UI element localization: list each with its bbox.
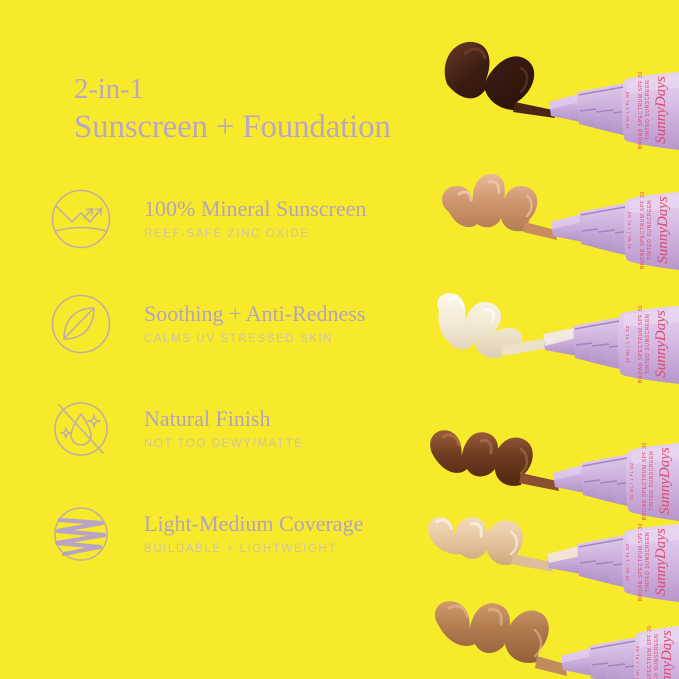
feature-item-mineral-sunscreen: 100% Mineral Sunscreen REEF-SAFE ZINC OX… (0, 186, 470, 291)
volume-text: 30 ML / 1 FL OZ (635, 645, 640, 679)
feature-item-coverage: Light-Medium Coverage BUILDABLE + LIGHTW… (0, 501, 470, 606)
uv-reflect-icon (50, 188, 112, 250)
copy-column: 2-in-1 Sunscreen + Foundation (0, 0, 470, 679)
feature-text: Natural Finish NOT TOO DEWY/MATTE (144, 396, 304, 450)
feature-text: Light-Medium Coverage BUILDABLE + LIGHTW… (144, 501, 363, 555)
shade-swatch-deep-espresso (445, 42, 555, 118)
feature-title: Light-Medium Coverage (144, 511, 363, 536)
no-dewy-droplet-icon (50, 398, 112, 460)
feature-list: 100% Mineral Sunscreen REEF-SAFE ZINC OX… (0, 186, 470, 606)
claim-line-2: TINTED SUNSCREEN (647, 200, 653, 260)
brand-text: SunnyDays (659, 630, 675, 679)
volume-text: 30 ML / 1 FL OZ (627, 211, 632, 249)
feature-subtitle: NOT TOO DEWY/MATTE (144, 438, 304, 450)
feature-subtitle: REEF-SAFE ZINC OXIDE (144, 228, 366, 240)
headline-line-2: Sunscreen + Foundation (74, 108, 391, 147)
feature-subtitle: BUILDABLE + LIGHTWEIGHT (144, 543, 363, 555)
product-unit-6: SunnyDays BROAD SPECTRUM SPF 30 TINTED S… (429, 552, 679, 679)
feature-title: Soothing + Anti-Redness (144, 301, 365, 326)
page-title: 2-in-1 Sunscreen + Foundation (74, 72, 391, 147)
product-ad-banner: 2-in-1 Sunscreen + Foundation (0, 0, 679, 679)
feature-text: Soothing + Anti-Redness CALMS UV STRESSE… (144, 291, 365, 345)
shade-swatch-medium-tan (442, 174, 557, 240)
feature-title: Natural Finish (144, 406, 304, 431)
brand-text: SunnyDays (655, 196, 671, 264)
leaf-icon (50, 293, 112, 355)
claim-line-1: BROAD SPECTRUM SPF 30 (647, 625, 653, 679)
coverage-swatch-icon (50, 503, 112, 565)
claim-line-2: TINTED SUNSCREEN (654, 634, 660, 679)
shade-swatch-medium-caramel (435, 601, 567, 676)
feature-text: 100% Mineral Sunscreen REEF-SAFE ZINC OX… (144, 186, 366, 240)
feature-item-natural-finish: Natural Finish NOT TOO DEWY/MATTE (0, 396, 470, 501)
headline-line-1: 2-in-1 (74, 72, 391, 106)
volume-text: 30 ML / 1 FL OZ (625, 91, 630, 129)
product-column: SunnyDays BROAD SPECTRUM SPF 30 TINTED S… (429, 0, 679, 679)
claim-line-1: BROAD SPECTRUM SPF 30 (640, 191, 646, 269)
feature-item-soothing: Soothing + Anti-Redness CALMS UV STRESSE… (0, 291, 470, 396)
feature-subtitle: CALMS UV STRESSED SKIN (144, 333, 365, 345)
feature-title: 100% Mineral Sunscreen (144, 196, 366, 221)
